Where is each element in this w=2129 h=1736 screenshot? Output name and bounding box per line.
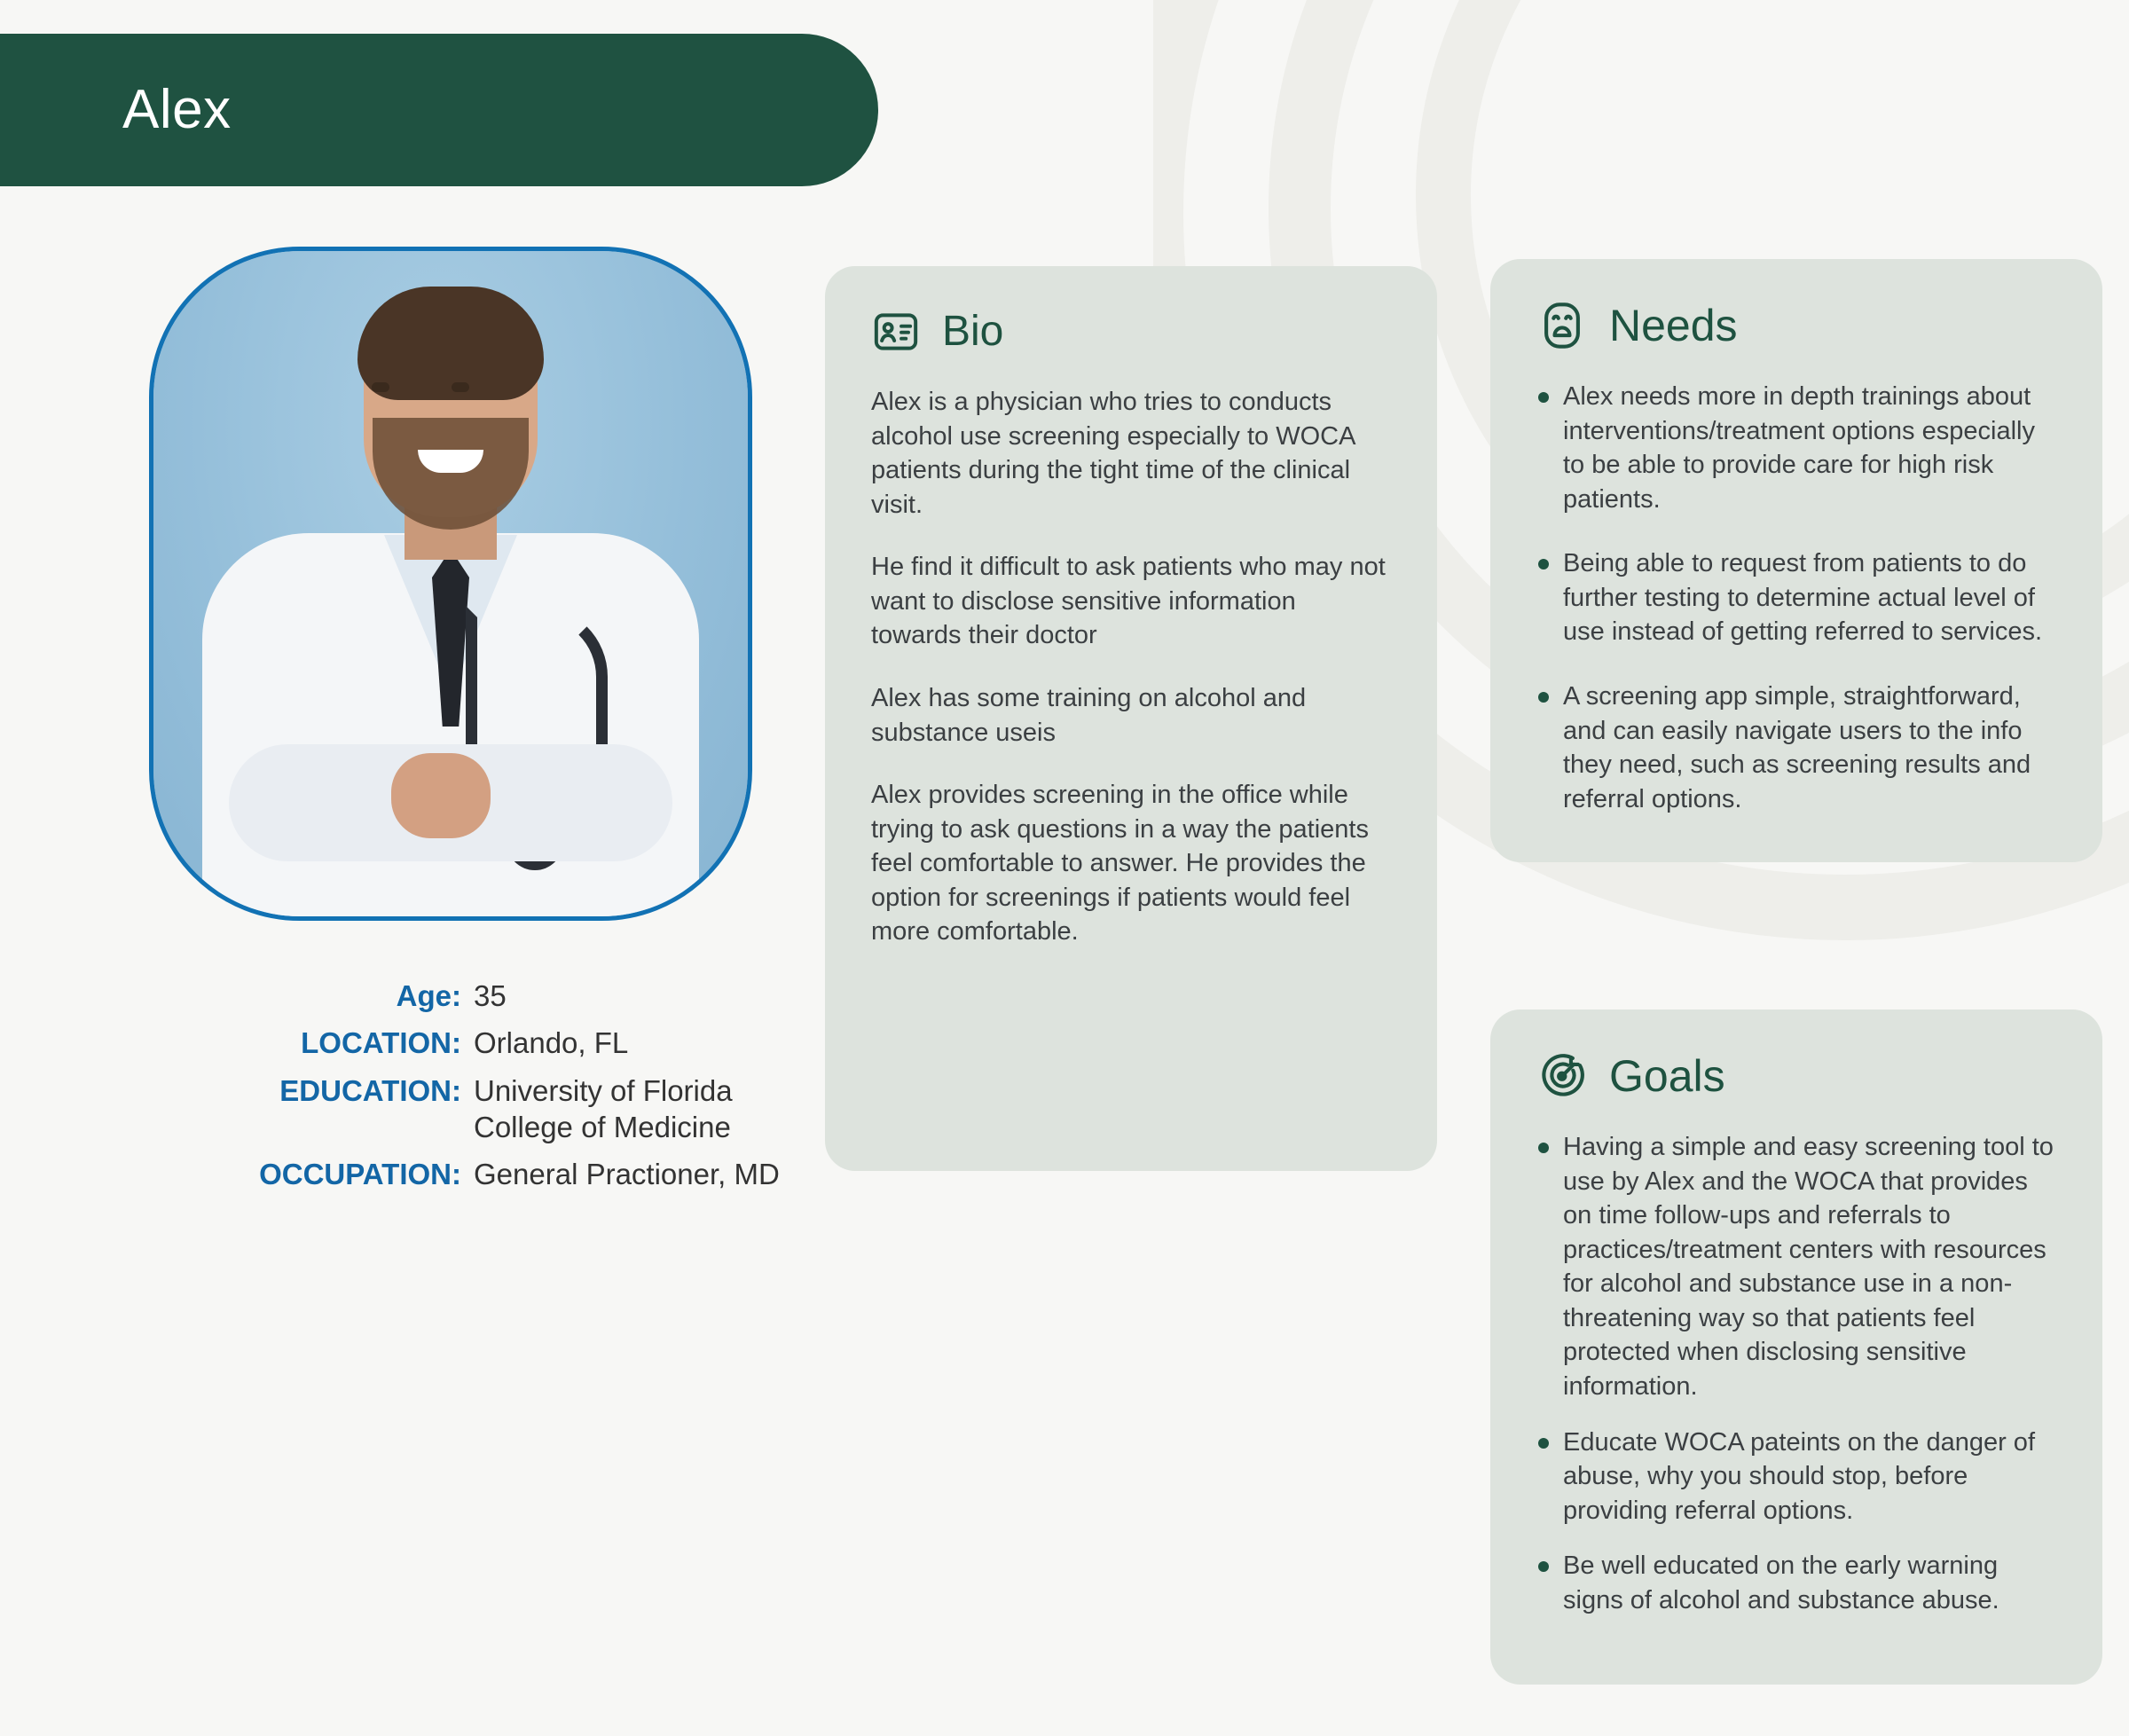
demographic-value-occupation: General Practioner, MD bbox=[474, 1156, 811, 1192]
id-card-icon bbox=[871, 307, 921, 357]
header-banner: Alex bbox=[0, 34, 878, 186]
bio-card-title: Bio bbox=[942, 310, 1003, 353]
demographic-label-location: LOCATION: bbox=[0, 1025, 461, 1061]
bio-card: Bio Alex is a physician who tries to con… bbox=[825, 266, 1437, 1171]
demographic-label-education: EDUCATION: bbox=[0, 1072, 461, 1109]
list-item: Educate WOCA pateints on the danger of a… bbox=[1536, 1426, 2056, 1528]
demographic-label-age: Age: bbox=[0, 978, 461, 1014]
list-item: Be well educated on the early warning si… bbox=[1536, 1549, 2056, 1617]
goals-card: Goals Having a simple and easy screening… bbox=[1490, 1009, 2102, 1685]
list-item: A screening app simple, straightforward,… bbox=[1536, 679, 2056, 816]
photo-hand bbox=[391, 753, 491, 838]
goals-list: Having a simple and easy screening tool … bbox=[1536, 1130, 2056, 1617]
profile-column: Age: 35 LOCATION: Orlando, FL EDUCATION:… bbox=[0, 247, 816, 1192]
face-squircle-icon bbox=[1536, 300, 1588, 351]
photo-eye-right bbox=[452, 382, 469, 392]
persona-photo bbox=[149, 247, 752, 921]
demographic-value-location: Orlando, FL bbox=[474, 1025, 811, 1061]
bio-paragraph: Alex has some training on alcohol and su… bbox=[871, 681, 1391, 750]
demographic-label-occupation: OCCUPATION: bbox=[0, 1156, 461, 1192]
bio-card-header: Bio bbox=[871, 307, 1391, 357]
needs-card: Needs Alex needs more in depth trainings… bbox=[1490, 259, 2102, 862]
goals-card-title: Goals bbox=[1609, 1054, 1725, 1098]
bio-paragraph: He find it difficult to ask patients who… bbox=[871, 550, 1391, 653]
photo-eye-left bbox=[372, 382, 389, 392]
demographic-value-education: University of Florida College of Medicin… bbox=[474, 1072, 811, 1146]
needs-card-title: Needs bbox=[1609, 303, 1738, 348]
list-item: Having a simple and easy screening tool … bbox=[1536, 1130, 2056, 1404]
needs-card-header: Needs bbox=[1536, 300, 2056, 351]
needs-list: Alex needs more in depth trainings about… bbox=[1536, 380, 2056, 816]
demographic-value-age: 35 bbox=[474, 978, 811, 1014]
goals-card-header: Goals bbox=[1536, 1050, 2056, 1102]
list-item: Alex needs more in depth trainings about… bbox=[1536, 380, 2056, 516]
page-title: Alex bbox=[122, 82, 232, 137]
demographics-list: Age: 35 LOCATION: Orlando, FL EDUCATION:… bbox=[0, 978, 816, 1192]
bio-paragraph: Alex is a physician who tries to conduct… bbox=[871, 385, 1391, 522]
bio-paragraph: Alex provides screening in the office wh… bbox=[871, 778, 1391, 949]
list-item: Being able to request from patients to d… bbox=[1536, 546, 2056, 649]
target-arrow-icon bbox=[1536, 1050, 1588, 1102]
